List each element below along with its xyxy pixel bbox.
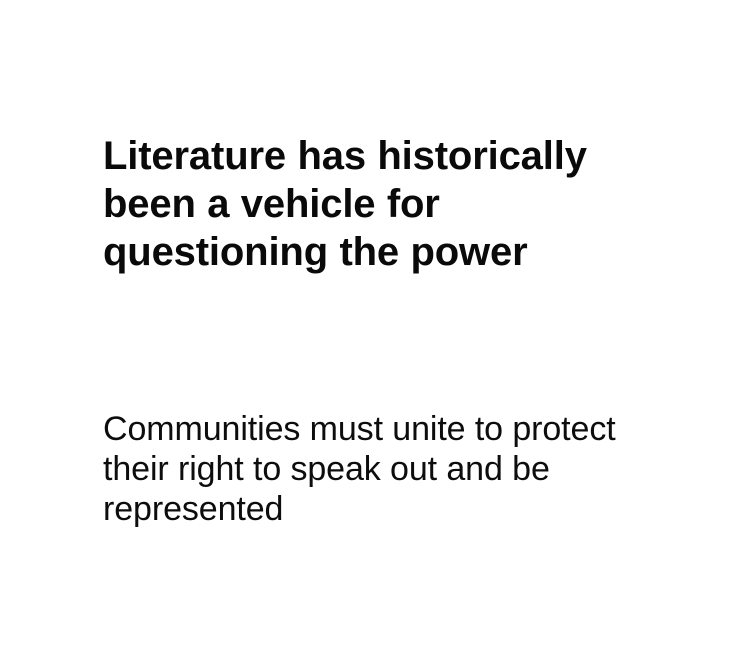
slide-heading: Literature has historically been a vehic…: [103, 132, 655, 276]
slide-body-text: Communities must unite to protect their …: [103, 409, 631, 529]
slide-canvas: Literature has historically been a vehic…: [0, 0, 750, 650]
heading-block: Literature has historically been a vehic…: [103, 132, 655, 276]
body-block: Communities must unite to protect their …: [103, 409, 631, 529]
